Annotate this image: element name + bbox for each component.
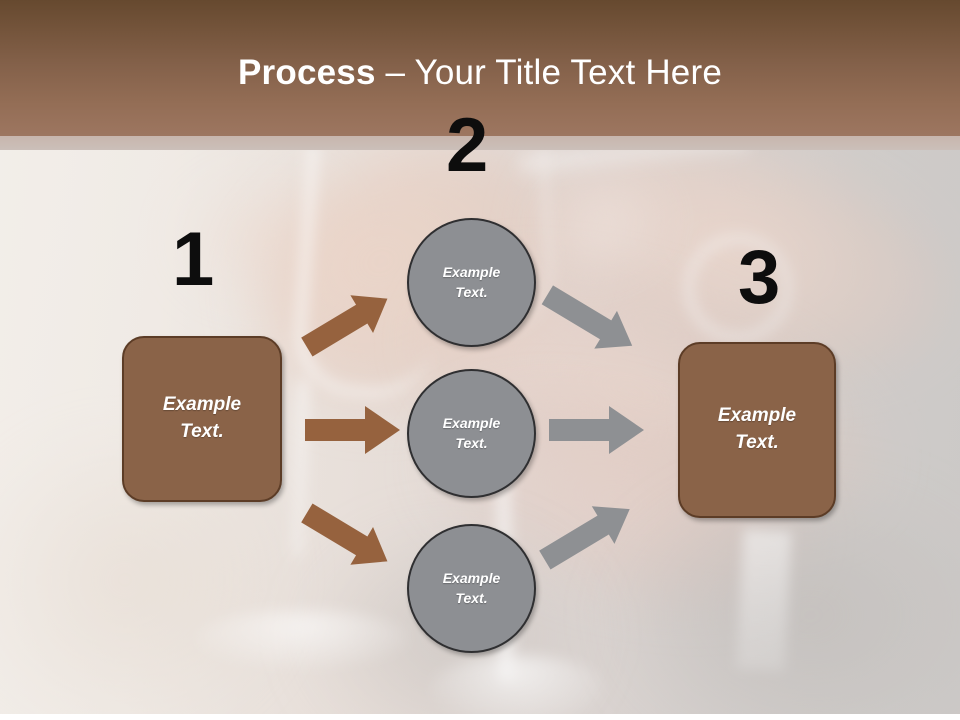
step-number-2: 2 [446,108,488,184]
arrow-circle-3-to-right [540,495,655,580]
process-circle-2[interactable]: Example Text. [407,369,536,498]
page-title-bold: Process [238,53,376,92]
page-title: Process – Your Title Text Here [0,52,960,94]
step-number-3: 3 [738,240,780,316]
process-circle-3[interactable]: Example Text. [407,524,536,653]
process-circle-3-label: Example Text. [443,569,501,609]
process-box-start[interactable]: Example Text. [122,336,282,502]
process-circle-1-label: Example Text. [443,263,501,303]
arrow-left-to-circle-3 [302,500,412,585]
page-title-rest: – Your Title Text Here [376,53,722,92]
process-circle-1[interactable]: Example Text. [407,218,536,347]
process-circle-2-label: Example Text. [443,414,501,454]
arrow-circle-1-to-right [545,283,660,368]
process-box-start-label: Example Text. [163,392,241,446]
slide-bottom-edge [0,714,960,720]
arrow-circle-2-to-right [547,400,652,460]
slide-canvas: Process – Your Title Text Here 1 2 3 [0,0,960,720]
process-box-end[interactable]: Example Text. [678,342,836,518]
arrow-left-to-circle-1 [300,278,410,363]
process-box-end-label: Example Text. [718,403,796,457]
step-number-1: 1 [172,222,214,298]
arrow-left-to-circle-2 [303,400,408,460]
